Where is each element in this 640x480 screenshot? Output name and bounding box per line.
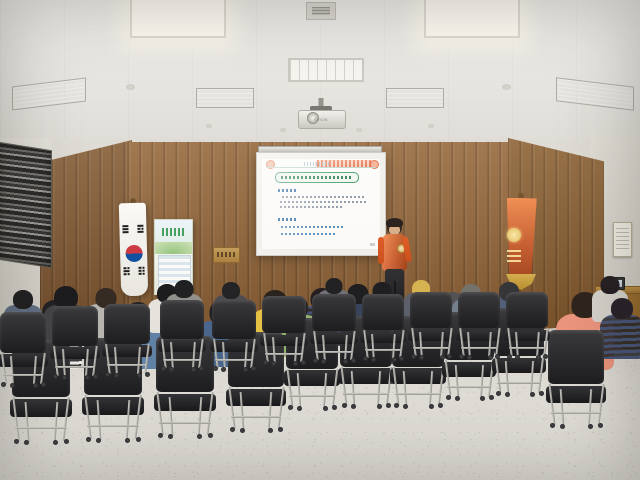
banner-landscape-graphic xyxy=(155,242,192,254)
chair-cross-rail xyxy=(231,416,280,418)
chair-caster xyxy=(343,359,348,364)
panel-light-left xyxy=(130,0,226,38)
chair-seat xyxy=(360,332,405,343)
chair[interactable] xyxy=(362,294,404,360)
trigram-top-left-2 xyxy=(122,228,128,230)
chair-caster xyxy=(560,424,565,429)
chair-seat xyxy=(10,399,73,417)
slide-page-number xyxy=(370,243,375,246)
slide-body-line-1 xyxy=(282,196,366,198)
presenter-left-arm xyxy=(378,237,384,264)
chair-backrest xyxy=(0,312,46,353)
chair[interactable] xyxy=(458,292,500,358)
chair-caster xyxy=(145,372,150,377)
chair-seat xyxy=(492,358,546,373)
chair-caster xyxy=(505,392,510,397)
window-blinds[interactable] xyxy=(0,142,52,269)
chair-cross-rail xyxy=(551,412,600,414)
chair-caster xyxy=(64,439,69,444)
sprinkler-d xyxy=(428,124,434,128)
vent-left xyxy=(196,88,254,108)
chair-leg xyxy=(137,347,141,374)
chair-backrest xyxy=(458,292,500,328)
chair-caster xyxy=(240,428,245,433)
chair-backrest xyxy=(104,304,150,344)
trigram-top-right-2 xyxy=(141,228,144,230)
chair-cross-rail xyxy=(289,395,335,397)
chair-seat xyxy=(210,340,258,352)
chair-seat xyxy=(338,368,394,384)
panel-light-right xyxy=(424,0,520,38)
chair[interactable] xyxy=(410,292,452,358)
chair-caster xyxy=(161,366,166,371)
chair-cross-rail xyxy=(365,349,402,351)
chair-caster xyxy=(392,357,397,362)
chair-caster xyxy=(93,374,98,379)
attendee-back-mid-head xyxy=(222,282,240,299)
chair-cross-rail xyxy=(265,353,304,355)
slide-body-line-3 xyxy=(280,206,342,208)
chair-caster xyxy=(85,375,90,380)
trigram-top-left xyxy=(122,225,128,227)
chair-caster xyxy=(507,354,512,359)
chair-caster xyxy=(86,437,91,442)
trigram-top-right xyxy=(137,225,143,227)
chair-seat xyxy=(442,362,496,377)
chair-leg xyxy=(536,332,540,357)
attendee-gray-suit-head xyxy=(175,280,194,298)
chair[interactable] xyxy=(312,294,356,362)
chair[interactable] xyxy=(506,292,548,358)
chair-caster xyxy=(455,396,460,401)
chair-caster xyxy=(394,403,399,408)
chair-cross-rail xyxy=(159,422,210,424)
org-flag-lettering xyxy=(507,250,521,264)
slide-header-rule xyxy=(266,167,376,168)
ceiling-sensor-left xyxy=(126,84,135,90)
slide-title-box xyxy=(275,172,359,183)
chair-caster xyxy=(363,356,368,361)
chair-seat xyxy=(226,389,286,406)
chair-caster xyxy=(208,433,213,438)
chair-seat xyxy=(390,368,446,384)
sprinkler-c xyxy=(356,128,362,132)
wall-plaque xyxy=(213,247,240,263)
projection-screen xyxy=(256,152,386,256)
chair-cross-rail xyxy=(497,382,541,384)
slide-body-line-2 xyxy=(280,201,368,203)
chair[interactable] xyxy=(262,296,306,364)
chair-caster xyxy=(136,437,141,442)
trigram-top-right-3 xyxy=(138,231,144,233)
chair-caster xyxy=(14,439,19,444)
chair-caster xyxy=(62,375,67,380)
chair-cross-rail xyxy=(3,374,43,376)
trigram-bot-right-3b xyxy=(139,273,142,275)
taeguk-symbol-icon xyxy=(125,245,142,262)
chair-caster xyxy=(288,405,293,410)
chair-caster xyxy=(386,403,391,408)
chair-cross-rail xyxy=(55,366,95,368)
chair-caster xyxy=(169,367,174,372)
chair-caster xyxy=(268,428,273,433)
ceiling-projector: EPSON xyxy=(298,98,344,130)
chair-backrest xyxy=(548,330,604,384)
chair-seat xyxy=(50,347,100,359)
ceiling-speaker xyxy=(306,2,336,20)
chair-cross-rail xyxy=(413,347,450,349)
chair-caster xyxy=(496,391,501,396)
chair-cross-rail xyxy=(15,427,66,429)
chair[interactable] xyxy=(160,300,204,370)
chair-caster xyxy=(530,392,535,397)
chair-leg xyxy=(392,334,396,359)
chair-caster xyxy=(550,423,555,428)
chair-leg xyxy=(33,356,37,384)
chair-seat xyxy=(260,335,308,347)
chair-cross-rail xyxy=(461,347,498,349)
presenter-hair xyxy=(386,218,403,227)
chair-cross-rail xyxy=(215,359,254,361)
chair-caster xyxy=(278,427,283,432)
chair-caster xyxy=(213,366,218,371)
chair-cross-rail xyxy=(163,359,202,361)
chair-seat xyxy=(0,354,48,367)
wall-notice-right xyxy=(613,222,632,257)
trigram-bot-left-2 xyxy=(124,270,130,272)
trigram-bot-left-3 xyxy=(124,273,127,275)
chair-caster xyxy=(459,354,464,359)
chair-caster xyxy=(230,427,235,432)
chair-caster xyxy=(321,359,326,364)
vent-right xyxy=(386,88,444,108)
chair-seat xyxy=(546,386,606,403)
chair-caster xyxy=(137,373,142,378)
slide-bullet-1 xyxy=(281,226,345,228)
banner-logo-icon xyxy=(162,228,184,236)
trigram-bot-right-b xyxy=(138,267,141,269)
trigram-bot-right-3 xyxy=(142,273,145,275)
chair-caster xyxy=(440,355,445,360)
chair-caster xyxy=(271,361,276,366)
chair-cross-rail xyxy=(509,347,546,349)
chair-backrest xyxy=(212,300,256,339)
chair-caster xyxy=(293,361,298,366)
sprinkler-b xyxy=(280,128,286,132)
trigram-bot-left xyxy=(123,267,126,269)
slide-header-subtext xyxy=(304,162,330,166)
chair-caster xyxy=(438,403,443,408)
chair-caster xyxy=(251,366,256,371)
chair-caster xyxy=(41,382,46,387)
chair-cross-rail xyxy=(343,393,389,395)
chair-caster xyxy=(489,395,494,400)
chair-backrest xyxy=(312,294,356,331)
chair-caster xyxy=(221,367,226,372)
chair-seat xyxy=(456,330,501,341)
presentation-slide xyxy=(262,159,380,249)
chair-caster xyxy=(411,354,416,359)
chair-cross-rail xyxy=(107,364,147,366)
chair-caster xyxy=(158,433,163,438)
korean-flag xyxy=(119,203,148,297)
chair-caster xyxy=(539,391,544,396)
chair-backrest xyxy=(362,294,404,330)
chair[interactable] xyxy=(0,312,46,386)
attendee-back-left-head xyxy=(13,290,33,309)
chair-seat xyxy=(102,345,152,357)
slide-title-text xyxy=(281,176,353,179)
chair-seat xyxy=(504,330,549,341)
chair[interactable] xyxy=(548,330,604,428)
chair-backrest xyxy=(410,292,452,328)
chair-caster xyxy=(10,383,15,388)
trigram-bot-right-2 xyxy=(142,270,145,272)
slide-section-heading-1 xyxy=(278,189,298,192)
chair-caster xyxy=(588,424,593,429)
chair-caster xyxy=(488,355,493,360)
chair-caster xyxy=(480,396,485,401)
chair-caster xyxy=(419,355,424,360)
chair-caster xyxy=(515,355,520,360)
attendee-far-right-head xyxy=(601,276,620,294)
chair-backrest xyxy=(506,292,548,328)
chair-caster xyxy=(33,383,38,388)
chair-caster xyxy=(332,405,337,410)
ceiling-sensor-right xyxy=(502,84,511,90)
chair-caster xyxy=(598,423,603,428)
chair-cross-rail xyxy=(87,425,138,427)
slide-bullet-2 xyxy=(281,233,337,235)
attendee-patterned-torso xyxy=(600,315,640,359)
fluorescent-fixture xyxy=(288,58,364,82)
chair[interactable] xyxy=(104,304,150,376)
trigram-bot-right xyxy=(142,267,145,269)
lecture-room-photo: EPSON xyxy=(0,0,640,480)
chair-caster xyxy=(191,367,196,372)
chair-seat xyxy=(310,333,358,345)
chair-caster xyxy=(351,358,356,363)
chair[interactable] xyxy=(212,300,256,370)
chair-caster xyxy=(467,355,472,360)
chair-caster xyxy=(199,366,204,371)
chair-caster xyxy=(342,403,347,408)
chair-caster xyxy=(446,395,451,400)
chair-seat xyxy=(82,397,145,415)
chair-caster xyxy=(114,373,119,378)
projector-brand-label: EPSON xyxy=(298,118,344,122)
chair-caster xyxy=(371,357,376,362)
trigram-top-left-3 xyxy=(123,231,129,233)
sprinkler-a xyxy=(206,124,212,128)
chair-cross-rail xyxy=(315,351,354,353)
trigram-top-right-2b xyxy=(137,228,140,230)
chair-leg xyxy=(85,349,89,376)
chair-leg xyxy=(440,332,444,357)
chair[interactable] xyxy=(52,306,98,378)
org-flag-emblem-icon xyxy=(507,228,521,242)
chair-seat xyxy=(284,370,340,386)
chair-caster xyxy=(243,367,248,372)
chair-caster xyxy=(301,360,306,365)
chair-backrest xyxy=(262,296,306,333)
chair-cross-rail xyxy=(395,393,441,395)
chair-cross-rail xyxy=(447,386,491,388)
trigram-bot-left-3b xyxy=(127,273,130,275)
trigram-bot-right-2b xyxy=(139,270,142,272)
attendee-patterned-head xyxy=(611,298,633,319)
chair-leg xyxy=(488,332,492,357)
chair-seat xyxy=(408,330,453,341)
chair-seat xyxy=(154,394,217,411)
trigram-bot-left-b xyxy=(127,267,130,269)
attendee-patterned xyxy=(600,298,640,363)
slide-section-heading-2 xyxy=(278,218,296,221)
chair-backrest xyxy=(52,306,98,346)
chair-backrest xyxy=(160,300,204,339)
attendee-left-edge-head xyxy=(326,278,343,294)
chair-caster xyxy=(536,355,541,360)
chair-seat xyxy=(158,340,206,352)
